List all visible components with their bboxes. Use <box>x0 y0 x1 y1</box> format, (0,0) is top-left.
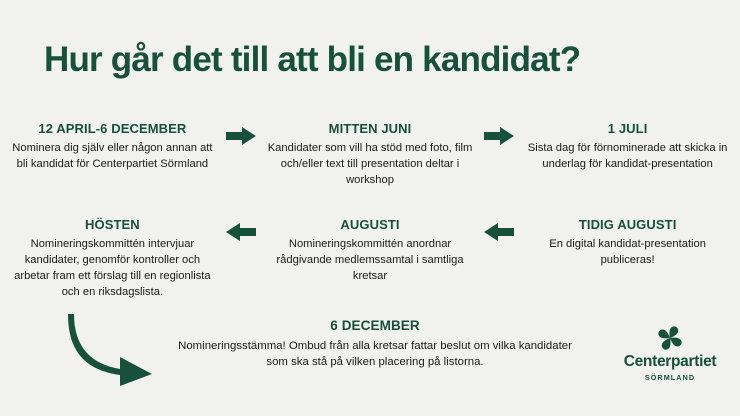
arrow-left-icon <box>226 222 256 242</box>
flow-step-heading: TIDIG AUGUSTI <box>521 218 734 233</box>
centerpartiet-logo: Centerpartiet SÖRMLAND <box>618 324 722 382</box>
logo-name: Centerpartiet <box>618 354 722 370</box>
flow-step-12-april-6-december: 12 APRIL-6 DECEMBER Nominera dig själv e… <box>0 122 225 173</box>
arrow-right-icon <box>484 126 514 146</box>
flow-step-body: Nomineringskommittén anordnar rådgivande… <box>264 237 477 285</box>
flow-step-6-december: 6 DECEMBER Nomineringsstämma! Ombud från… <box>175 318 575 371</box>
flow-step-heading: HÖSTEN <box>6 218 219 233</box>
flow-step-tidig-augusti: TIDIG AUGUSTI En digital kandidat-presen… <box>515 218 740 269</box>
logo-region: SÖRMLAND <box>618 373 722 382</box>
flow-connector-4 <box>482 218 515 242</box>
flow-step-body: Nomineringsstämma! Ombud från alla krets… <box>175 338 575 371</box>
flow-connector-1 <box>225 122 258 146</box>
flow-step-heading: 12 APRIL-6 DECEMBER <box>6 122 219 137</box>
flow-row-1: 12 APRIL-6 DECEMBER Nominera dig själv e… <box>0 122 740 189</box>
flow-step-heading: AUGUSTI <box>264 218 477 233</box>
arrow-left-icon <box>484 222 514 242</box>
flow-step-heading: 1 JULI <box>521 122 734 137</box>
four-leaf-clover-icon <box>653 324 687 352</box>
flow-connector-3 <box>225 218 258 242</box>
flow-step-body: Nomineringskommittén intervjuar kandidat… <box>6 237 219 301</box>
flow-connector-2 <box>482 122 515 146</box>
flow-step-mitten-juni: MITTEN JUNI Kandidater som vill ha stöd … <box>258 122 483 189</box>
flow-row-2: HÖSTEN Nomineringskommittén intervjuar k… <box>0 218 740 301</box>
arrow-right-icon <box>226 126 256 146</box>
flow-step-body: Nominera dig själv eller någon annan att… <box>6 141 219 173</box>
flow-step-heading: MITTEN JUNI <box>264 122 477 137</box>
flow-step-body: Sista dag för förnominerade att skicka i… <box>521 141 734 173</box>
flow-step-hosten: HÖSTEN Nomineringskommittén intervjuar k… <box>0 218 225 301</box>
flow-step-body: En digital kandidat-presentation publice… <box>521 237 734 269</box>
page-title: Hur går det till att bli en kandidat? <box>44 42 580 79</box>
slide-canvas: Hur går det till att bli en kandidat? 12… <box>0 0 740 416</box>
arrow-curved-down-right-icon <box>68 312 158 386</box>
flow-step-body: Kandidater som vill ha stöd med foto, fi… <box>264 141 477 189</box>
flow-step-1-juli: 1 JULI Sista dag för förnominerade att s… <box>515 122 740 173</box>
flow-step-heading: 6 DECEMBER <box>175 318 575 334</box>
flow-step-augusti: AUGUSTI Nomineringskommittén anordnar rå… <box>258 218 483 285</box>
